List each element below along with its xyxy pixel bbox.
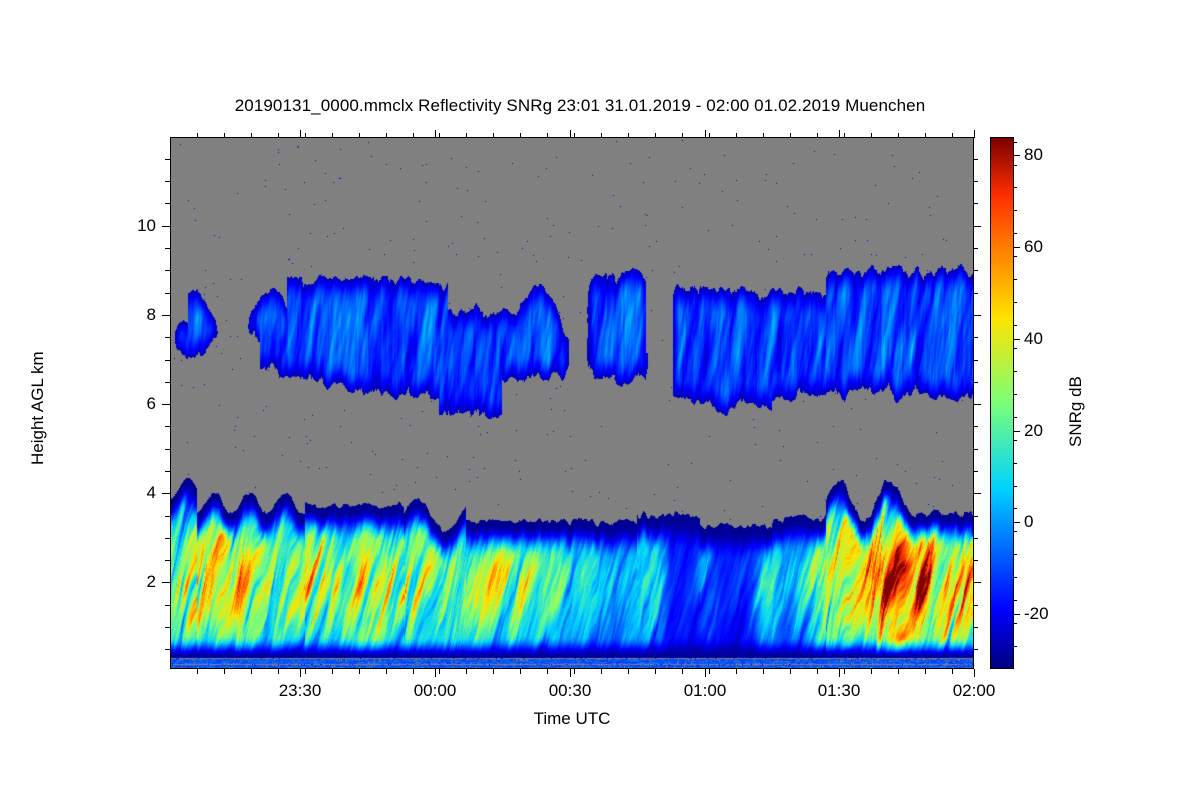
x-tick-label: 02:00 <box>953 681 996 701</box>
x-minor-tick <box>305 669 306 674</box>
x-minor-tick-top <box>817 133 818 138</box>
y-minor-tick <box>165 449 170 450</box>
y-axis-title: Height AGL km <box>28 351 48 465</box>
colorbar-minor-tick <box>1013 279 1017 280</box>
x-minor-tick-top <box>709 133 710 138</box>
x-minor-tick <box>736 669 737 674</box>
x-minor-tick <box>628 669 629 674</box>
y-minor-tick-right <box>973 293 978 294</box>
x-minor-tick-top <box>574 133 575 138</box>
colorbar-minor-tick <box>1013 371 1017 372</box>
colorbar-gradient <box>990 137 1014 669</box>
colorbar-tick-label: 60 <box>1024 237 1043 257</box>
x-minor-tick <box>925 669 926 674</box>
x-minor-tick <box>952 669 953 674</box>
x-minor-tick <box>682 669 683 674</box>
y-minor-tick <box>165 382 170 383</box>
colorbar-minor-tick <box>1013 554 1017 555</box>
y-minor-tick <box>165 360 170 361</box>
y-minor-tick <box>165 315 170 316</box>
figure-root: 20190131_0000.mmclx Reflectivity SNRg 23… <box>0 0 1200 800</box>
x-minor-tick <box>251 669 252 674</box>
x-minor-tick-top <box>601 133 602 138</box>
colorbar-tick <box>1013 431 1020 432</box>
x-minor-tick <box>574 669 575 674</box>
y-minor-tick-right <box>973 360 978 361</box>
colorbar-tick <box>1013 339 1020 340</box>
x-minor-tick-top <box>386 133 387 138</box>
x-major-tick-top <box>300 130 301 138</box>
y-minor-tick <box>165 159 170 160</box>
x-major-tick <box>705 669 706 677</box>
y-minor-tick <box>165 627 170 628</box>
colorbar-tick-label: 0 <box>1024 512 1033 532</box>
x-minor-tick-top <box>413 133 414 138</box>
colorbar-minor-tick <box>1013 508 1017 509</box>
x-major-tick-top <box>839 130 840 138</box>
colorbar-minor-tick <box>1013 463 1017 464</box>
x-tick-label: 01:30 <box>818 681 861 701</box>
x-major-tick <box>839 669 840 677</box>
colorbar-minor-tick <box>1013 600 1017 601</box>
y-minor-tick-right <box>973 382 978 383</box>
x-minor-tick-top <box>655 133 656 138</box>
y-minor-tick-right <box>973 449 978 450</box>
y-minor-tick-right <box>973 337 978 338</box>
reflectivity-heatmap <box>170 137 974 669</box>
x-minor-tick-top <box>952 133 953 138</box>
y-minor-tick-right <box>973 493 978 494</box>
y-minor-tick <box>165 493 170 494</box>
y-minor-tick-right <box>973 582 978 583</box>
x-major-tick <box>974 669 975 677</box>
x-tick-label: 00:00 <box>414 681 457 701</box>
colorbar-tick <box>1013 247 1020 248</box>
x-minor-tick-top <box>466 133 467 138</box>
x-major-tick-top <box>705 130 706 138</box>
y-minor-tick <box>165 293 170 294</box>
x-minor-tick <box>413 669 414 674</box>
colorbar-minor-tick <box>1013 646 1017 647</box>
x-minor-tick-top <box>790 133 791 138</box>
y-minor-tick-right <box>973 560 978 561</box>
y-minor-tick <box>165 337 170 338</box>
x-minor-tick-top <box>682 133 683 138</box>
colorbar-tick-label: 80 <box>1024 145 1043 165</box>
x-tick-label: 23:30 <box>279 681 322 701</box>
y-minor-tick <box>165 181 170 182</box>
colorbar-minor-tick <box>1013 210 1017 211</box>
y-tick-label: 6 <box>122 394 156 414</box>
y-minor-tick-right <box>973 248 978 249</box>
x-major-tick <box>300 669 301 677</box>
y-minor-tick <box>165 270 170 271</box>
colorbar-minor-tick <box>1013 233 1017 234</box>
x-minor-tick-top <box>547 133 548 138</box>
y-minor-tick <box>165 582 170 583</box>
x-minor-tick <box>278 669 279 674</box>
x-major-tick <box>435 669 436 677</box>
colorbar-minor-tick <box>1013 348 1017 349</box>
x-minor-tick <box>224 669 225 674</box>
x-tick-label: 01:00 <box>684 681 727 701</box>
colorbar-minor-tick <box>1013 623 1017 624</box>
x-minor-tick <box>466 669 467 674</box>
y-minor-tick-right <box>973 471 978 472</box>
x-minor-tick <box>871 669 872 674</box>
y-minor-tick <box>165 471 170 472</box>
x-minor-tick <box>709 669 710 674</box>
y-minor-tick-right <box>973 203 978 204</box>
colorbar-minor-tick <box>1013 417 1017 418</box>
colorbar-minor-tick <box>1013 440 1017 441</box>
colorbar-minor-tick <box>1013 302 1017 303</box>
x-axis-title: Time UTC <box>534 709 611 729</box>
colorbar-minor-tick <box>1013 256 1017 257</box>
y-minor-tick-right <box>973 426 978 427</box>
colorbar-minor-tick <box>1013 486 1017 487</box>
colorbar-tick-label: 20 <box>1024 421 1043 441</box>
x-minor-tick-top <box>493 133 494 138</box>
y-tick-label: 10 <box>122 216 156 236</box>
x-minor-tick <box>493 669 494 674</box>
y-minor-tick-right <box>973 516 978 517</box>
y-minor-tick-right <box>973 404 978 405</box>
x-minor-tick-top <box>359 133 360 138</box>
x-minor-tick <box>898 669 899 674</box>
y-minor-tick <box>165 605 170 606</box>
x-minor-tick <box>655 669 656 674</box>
x-minor-tick <box>817 669 818 674</box>
y-minor-tick <box>165 248 170 249</box>
x-major-tick <box>570 669 571 677</box>
y-tick-label: 2 <box>122 572 156 592</box>
y-minor-tick-right <box>973 649 978 650</box>
x-minor-tick <box>547 669 548 674</box>
colorbar-tick <box>1013 614 1020 615</box>
x-minor-tick <box>844 669 845 674</box>
x-minor-tick <box>332 669 333 674</box>
y-minor-tick-right <box>973 605 978 606</box>
x-minor-tick-top <box>628 133 629 138</box>
x-minor-tick <box>520 669 521 674</box>
y-tick-label: 8 <box>122 305 156 325</box>
y-minor-tick-right <box>973 181 978 182</box>
y-minor-tick <box>165 404 170 405</box>
x-major-tick-top <box>570 130 571 138</box>
y-minor-tick <box>165 649 170 650</box>
x-minor-tick-top <box>844 133 845 138</box>
x-minor-tick-top <box>898 133 899 138</box>
colorbar-minor-tick <box>1013 577 1017 578</box>
y-minor-tick <box>165 226 170 227</box>
x-minor-tick <box>763 669 764 674</box>
x-major-tick-top <box>974 130 975 138</box>
x-tick-label: 00:30 <box>549 681 592 701</box>
x-minor-tick-top <box>439 133 440 138</box>
colorbar-title: SNRg dB <box>1066 376 1086 447</box>
x-minor-tick-top <box>251 133 252 138</box>
x-minor-tick-top <box>871 133 872 138</box>
x-minor-tick-top <box>224 133 225 138</box>
x-minor-tick-top <box>925 133 926 138</box>
colorbar-tick-label: 40 <box>1024 329 1043 349</box>
y-minor-tick-right <box>973 226 978 227</box>
colorbar-tick <box>1013 155 1020 156</box>
x-minor-tick-top <box>736 133 737 138</box>
x-minor-tick-top <box>520 133 521 138</box>
x-minor-tick <box>601 669 602 674</box>
x-minor-tick-top <box>278 133 279 138</box>
x-minor-tick <box>359 669 360 674</box>
y-minor-tick <box>165 203 170 204</box>
x-minor-tick-top <box>197 133 198 138</box>
x-minor-tick <box>386 669 387 674</box>
x-minor-tick-top <box>332 133 333 138</box>
y-minor-tick <box>165 516 170 517</box>
colorbar-minor-tick <box>1013 531 1017 532</box>
y-minor-tick <box>165 560 170 561</box>
figure-title: 20190131_0000.mmclx Reflectivity SNRg 23… <box>0 96 1160 116</box>
y-minor-tick-right <box>973 627 978 628</box>
x-minor-tick-top <box>763 133 764 138</box>
y-minor-tick <box>165 538 170 539</box>
y-minor-tick-right <box>973 315 978 316</box>
y-tick-label: 4 <box>122 483 156 503</box>
colorbar-minor-tick <box>1013 165 1017 166</box>
colorbar-minor-tick <box>1013 325 1017 326</box>
x-minor-tick <box>439 669 440 674</box>
x-minor-tick-top <box>305 133 306 138</box>
y-minor-tick-right <box>973 538 978 539</box>
colorbar-tick <box>1013 522 1020 523</box>
y-minor-tick-right <box>973 270 978 271</box>
x-minor-tick <box>197 669 198 674</box>
colorbar-minor-tick <box>1013 187 1017 188</box>
y-minor-tick-right <box>973 159 978 160</box>
x-major-tick-top <box>435 130 436 138</box>
y-minor-tick <box>165 426 170 427</box>
colorbar-tick-label: -20 <box>1024 604 1049 624</box>
colorbar-minor-tick <box>1013 394 1017 395</box>
colorbar-minor-tick <box>1013 142 1017 143</box>
x-minor-tick <box>790 669 791 674</box>
